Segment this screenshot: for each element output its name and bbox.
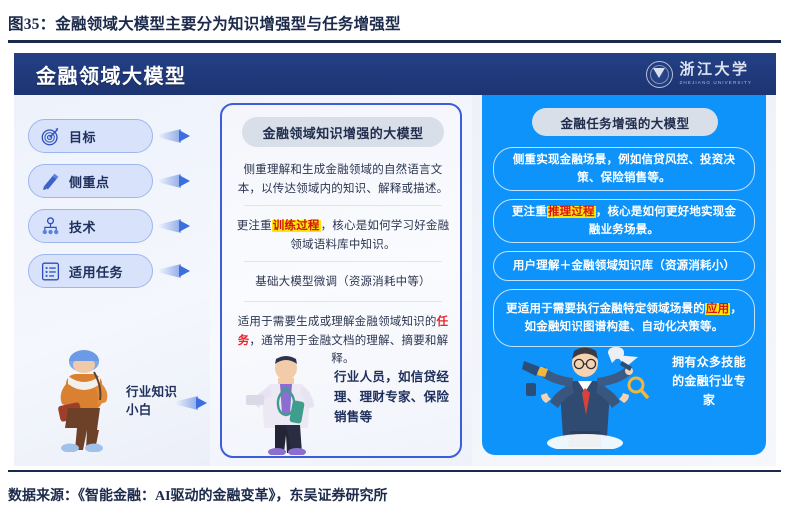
- task-model-item-2: 用户理解＋金融领域知识库（资源消耗小）: [493, 251, 755, 281]
- figure-source-text: 数据来源：《智能金融：AI驱动的金融变革》，东吴证券研究所: [8, 485, 388, 505]
- dimension-row-2: 技术: [28, 209, 193, 243]
- dimension-column: 目标 侧重点: [14, 95, 210, 466]
- task-model-title: 金融任务增强的大模型: [532, 108, 718, 136]
- network-icon: [40, 216, 61, 237]
- flow-arrow-2: [159, 217, 193, 235]
- slide-title: 金融领域大模型: [36, 60, 187, 89]
- pencil-icon: [40, 171, 61, 192]
- dimension-pill-label: 适用任务: [69, 262, 123, 281]
- item-text: 适用于需要生成或理解金融领域知识的: [238, 316, 437, 328]
- flow-arrow-0: [159, 127, 193, 145]
- slide-body: 目标 侧重点: [14, 95, 776, 466]
- university-seal-icon: [646, 61, 673, 88]
- dimension-pill-tasks[interactable]: 适用任务: [28, 254, 153, 288]
- target-icon: [40, 126, 61, 147]
- figure-caption: 图35：金融领域大模型主要分为知识增强型与任务增强型: [8, 8, 778, 38]
- item-text: 侧重实现金融场景，例如信贷风控、投资决策、保险销售等。: [513, 154, 735, 184]
- source-rule: [8, 470, 781, 472]
- multiarm-expert-illustration: [510, 343, 660, 449]
- knowledge-model-item-0: 侧重理解和生成金融领域的自然语言文本，以传达领域内的知识、解释或描述。: [234, 161, 452, 198]
- item-highlight: 训练过程: [272, 220, 321, 232]
- card-divider: [244, 301, 442, 302]
- dimension-row-0: 目标: [28, 119, 193, 153]
- item-highlight: 应用: [705, 303, 730, 315]
- figure-source: 数据来源：《智能金融：AI驱动的金融变革》，东吴证券研究所: [8, 480, 781, 510]
- item-text: 用户理解＋金融领域知识库（资源消耗小）: [513, 260, 735, 272]
- task-model-item-0: 侧重实现金融场景，例如信贷风控、投资决策、保险销售等。: [493, 147, 755, 191]
- knowledge-model-title: 金融领域知识增强的大模型: [242, 117, 444, 147]
- item-text: 更适用于需要执行金融特定领域场景的: [506, 303, 705, 315]
- slide-header: 金融领域大模型 浙江大学 ZHEJIANG UNIVERSITY: [14, 53, 776, 95]
- task-model-column: 金融任务增强的大模型 侧重实现金融场景，例如信贷风控、投资决策、保险销售等。 更…: [472, 95, 776, 466]
- task-model-item-3: 更适用于需要执行金融特定领域场景的应用，如金融知识图谱构建、自动化决策等。: [493, 289, 755, 347]
- right-persona-label: 拥有众多技能的金融行业专家: [672, 353, 746, 411]
- card-divider: [244, 261, 442, 262]
- dimension-pill-label: 侧重点: [69, 172, 110, 191]
- professional-person-illustration: [242, 353, 328, 455]
- dimension-pill-target[interactable]: 目标: [28, 119, 153, 153]
- slide-canvas: 金融领域大模型 浙江大学 ZHEJIANG UNIVERSITY: [14, 53, 776, 466]
- item-text: 更注重: [237, 220, 272, 232]
- dimension-pill-technology[interactable]: 技术: [28, 209, 153, 243]
- university-name-cn: 浙江大学: [680, 63, 752, 78]
- card-divider: [244, 205, 442, 206]
- checklist-icon: [40, 261, 61, 282]
- figure-caption-text: 图35：金融领域大模型主要分为知识增强型与任务增强型: [8, 12, 401, 34]
- flow-arrow-1: [159, 172, 193, 190]
- flow-arrow-3: [159, 262, 193, 280]
- item-text: 侧重理解和生成金融领域的自然语言文本，以传达领域内的知识、解释或描述。: [238, 164, 449, 195]
- dimension-row-1: 侧重点: [28, 164, 193, 198]
- university-logo: 浙江大学 ZHEJIANG UNIVERSITY: [646, 61, 752, 88]
- flow-arrow-persona: [176, 394, 210, 412]
- item-text: 基础大模型微调（资源消耗中等）: [255, 276, 431, 288]
- left-persona-label: 行业知识小白: [126, 383, 182, 419]
- task-model-item-1: 更注重推理过程，核心是如何更好地实现金融业务场景。: [493, 199, 755, 243]
- dimension-pill-focus[interactable]: 侧重点: [28, 164, 153, 198]
- knowledge-model-item-2: 基础大模型微调（资源消耗中等）: [234, 273, 452, 292]
- item-text: 更注重: [512, 206, 547, 218]
- middle-persona-label: 行业人员，如信贷经理、理财专家、保险销售等: [334, 367, 450, 427]
- task-model-card: 金融任务增强的大模型 侧重实现金融场景，例如信贷风控、投资决策、保险销售等。 更…: [482, 95, 766, 455]
- caption-rule: [8, 40, 781, 43]
- knowledge-model-card: 金融领域知识增强的大模型 侧重理解和生成金融领域的自然语言文本，以传达领域内的知…: [220, 103, 462, 458]
- item-highlight: 推理过程: [547, 206, 596, 218]
- knowledge-model-column: 金融领域知识增强的大模型 侧重理解和生成金融领域的自然语言文本，以传达领域内的知…: [210, 95, 472, 466]
- dimension-pill-label: 技术: [69, 217, 96, 236]
- dimension-pill-label: 目标: [69, 127, 96, 146]
- university-name-en: ZHEJIANG UNIVERSITY: [680, 81, 752, 86]
- knowledge-model-item-1: 更注重训练过程，核心是如何学习好金融领域语料库中知识。: [234, 217, 452, 254]
- item-text: ，核心是如何更好地实现金融业务场景。: [589, 206, 736, 236]
- novice-person-illustration: [42, 348, 126, 452]
- dimension-row-3: 适用任务: [28, 254, 193, 288]
